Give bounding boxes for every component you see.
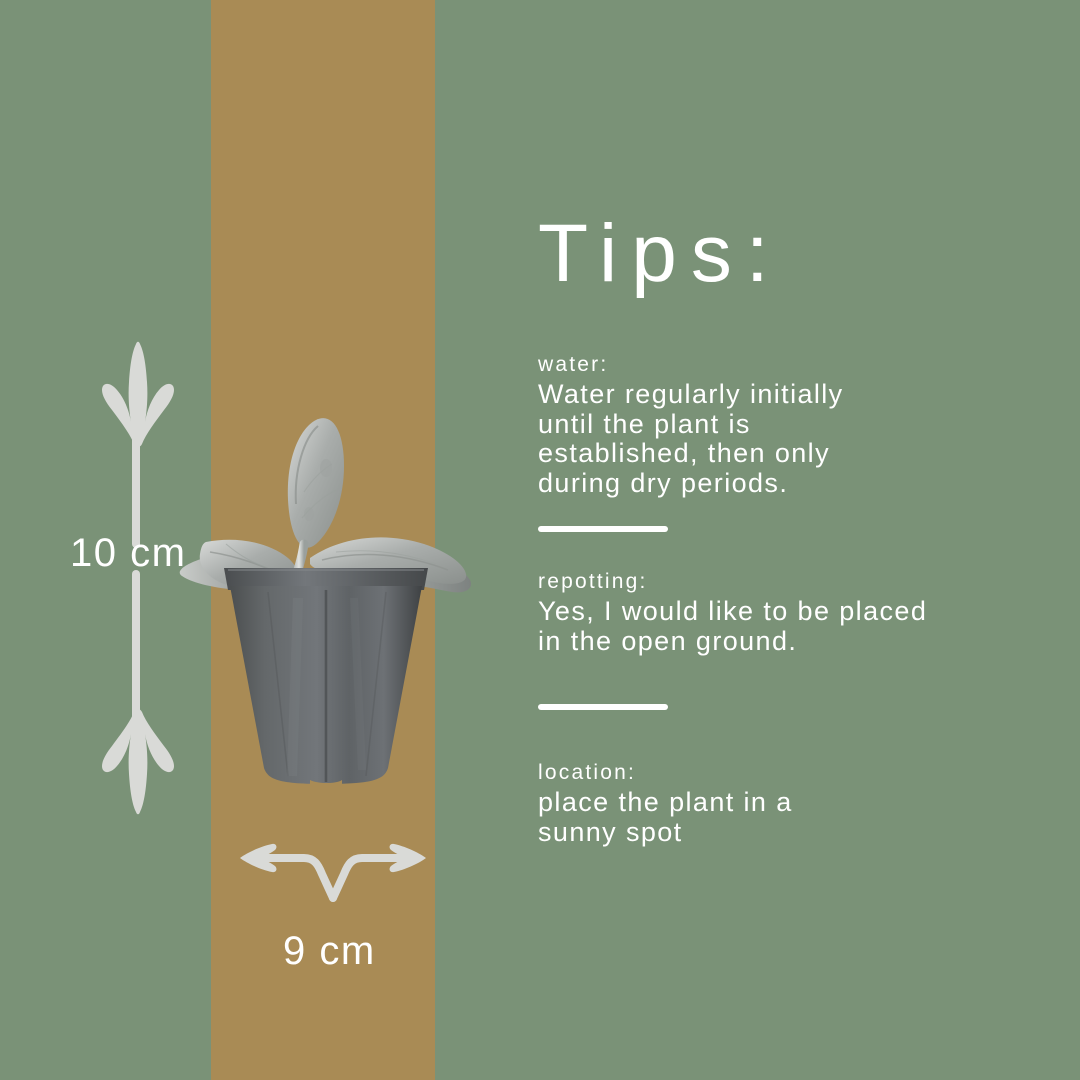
tip-body-water: Water regularly initially until the plan…	[538, 380, 1038, 498]
height-measurement-label: 10 cm	[70, 527, 186, 579]
tip-label-water: water:	[538, 350, 1038, 380]
tip-label-location: location:	[538, 758, 1038, 788]
double-headed-horizontal-arrow-icon	[238, 838, 428, 910]
potted-seedling-photo	[176, 408, 476, 788]
tip-label-repotting: repotting:	[538, 567, 1038, 597]
tip-body-repotting: Yes, I would like to be placed in the op…	[538, 597, 1038, 656]
tips-panel: Tips: water: Water regularly initially u…	[538, 206, 1038, 847]
tip-block-repotting: repotting: Yes, I would like to be place…	[538, 567, 1038, 656]
width-measurement-label: 9 cm	[283, 925, 376, 977]
tip-block-location: location: place the plant in a sunny spo…	[538, 758, 1038, 847]
plant-care-card: 10 cm 9 cm Tips: water: Water regularly …	[0, 0, 1080, 1080]
tips-title: Tips:	[538, 206, 1038, 302]
tip-body-location: place the plant in a sunny spot	[538, 788, 1038, 847]
tip-block-water: water: Water regularly initially until t…	[538, 350, 1038, 498]
